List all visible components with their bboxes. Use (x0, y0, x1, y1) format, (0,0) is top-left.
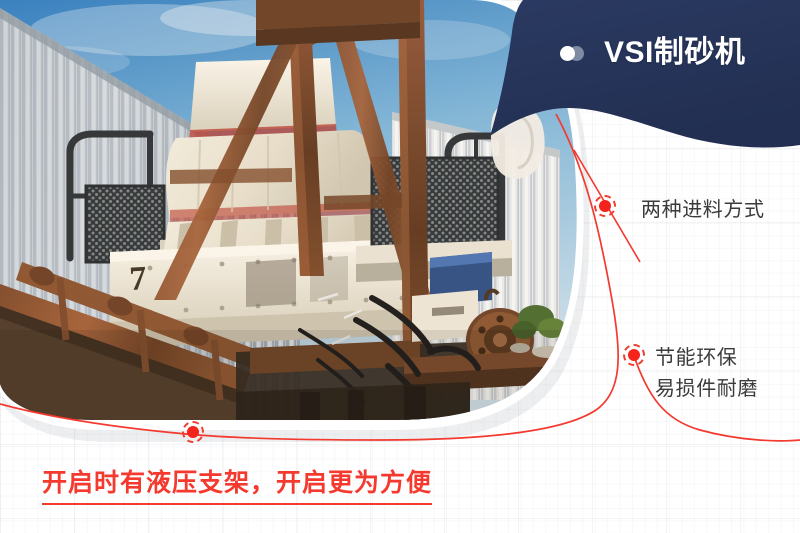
feature-label-3: 易损件耐磨 (655, 374, 758, 405)
banner-stage: 7 (0, 0, 800, 533)
dot-core (187, 426, 199, 438)
double-circle-bullet-icon (560, 46, 590, 61)
page-title: VSI制砂机 (604, 38, 745, 68)
banner-title-group: VSI制砂机 (560, 38, 745, 68)
dot-core (628, 349, 640, 361)
banner-artwork: 7 (0, 0, 800, 533)
dot-core (599, 200, 611, 212)
machine-photo: 7 (0, 0, 580, 430)
red-dot-marker-feature-2 (623, 344, 645, 366)
feature-label-group-2: 节能环保 易损件耐磨 (655, 343, 758, 405)
red-dot-marker-feature-1 (594, 195, 616, 217)
red-dot-marker-caption (182, 421, 204, 443)
bottom-caption: 开启时有液压支架，开启更为方便 (42, 470, 432, 505)
feature-label-2: 节能环保 (655, 343, 758, 374)
feature-label-1: 两种进料方式 (641, 195, 765, 226)
